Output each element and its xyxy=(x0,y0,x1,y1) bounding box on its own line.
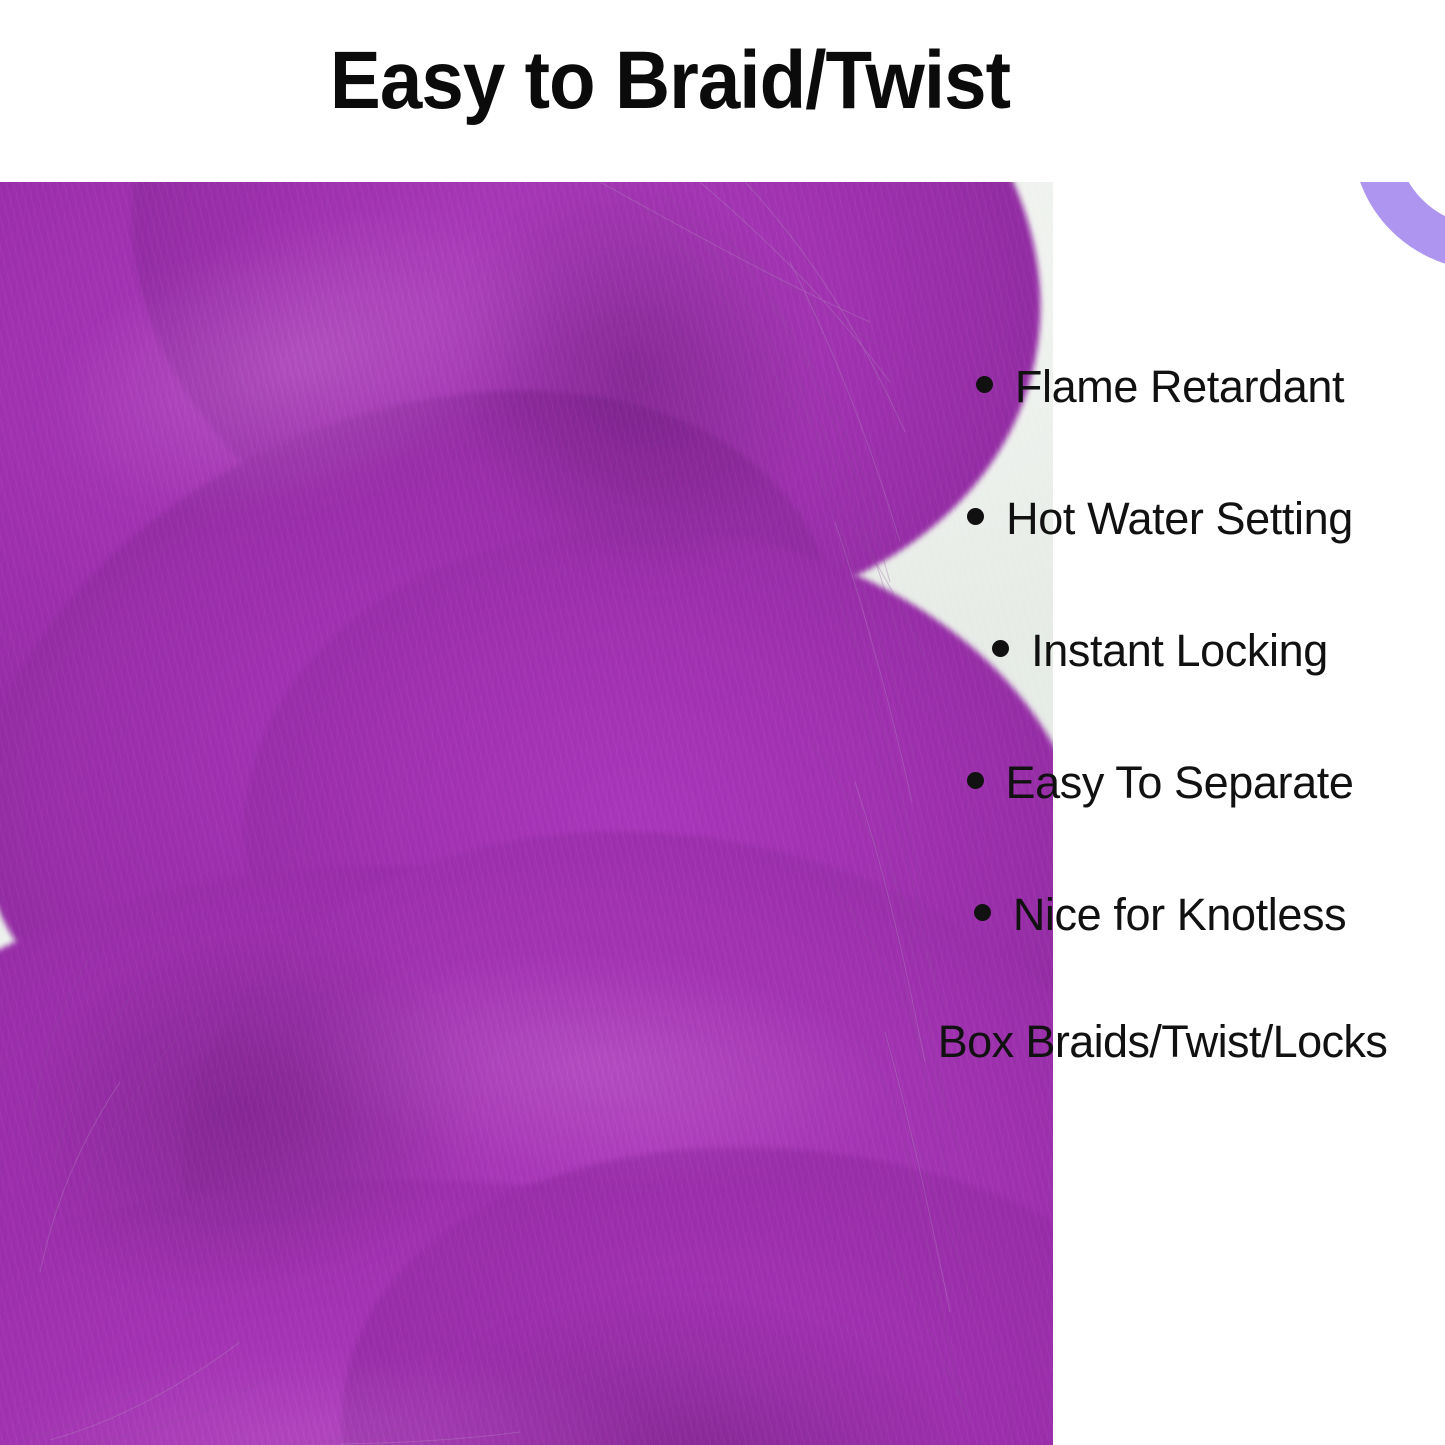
list-item: Hot Water Setting xyxy=(880,494,1440,626)
bullet-icon xyxy=(992,640,1009,657)
feature-label: Hot Water Setting xyxy=(1006,494,1353,544)
infographic-canvas: Easy to Braid/Twist Flame Retardant Hot … xyxy=(0,0,1445,1445)
closing-line: Box Braids/Twist/Locks xyxy=(880,1016,1445,1068)
header-band: Easy to Braid/Twist xyxy=(0,0,1445,182)
bullet-icon xyxy=(967,508,984,525)
feature-list: Flame Retardant Hot Water Setting Instan… xyxy=(880,362,1440,1022)
list-item: Nice for Knotless xyxy=(880,890,1440,1022)
bullet-icon xyxy=(976,376,993,393)
list-item: Easy To Separate xyxy=(880,758,1440,890)
page-title: Easy to Braid/Twist xyxy=(47,38,1293,124)
feature-label: Easy To Separate xyxy=(1006,758,1354,808)
feature-label: Instant Locking xyxy=(1031,626,1328,676)
list-item: Instant Locking xyxy=(880,626,1440,758)
bullet-icon xyxy=(967,772,984,789)
feature-label: Flame Retardant xyxy=(1015,362,1344,412)
list-item: Flame Retardant xyxy=(880,362,1440,494)
bullet-icon xyxy=(974,904,991,921)
feature-label: Nice for Knotless xyxy=(1013,890,1346,940)
